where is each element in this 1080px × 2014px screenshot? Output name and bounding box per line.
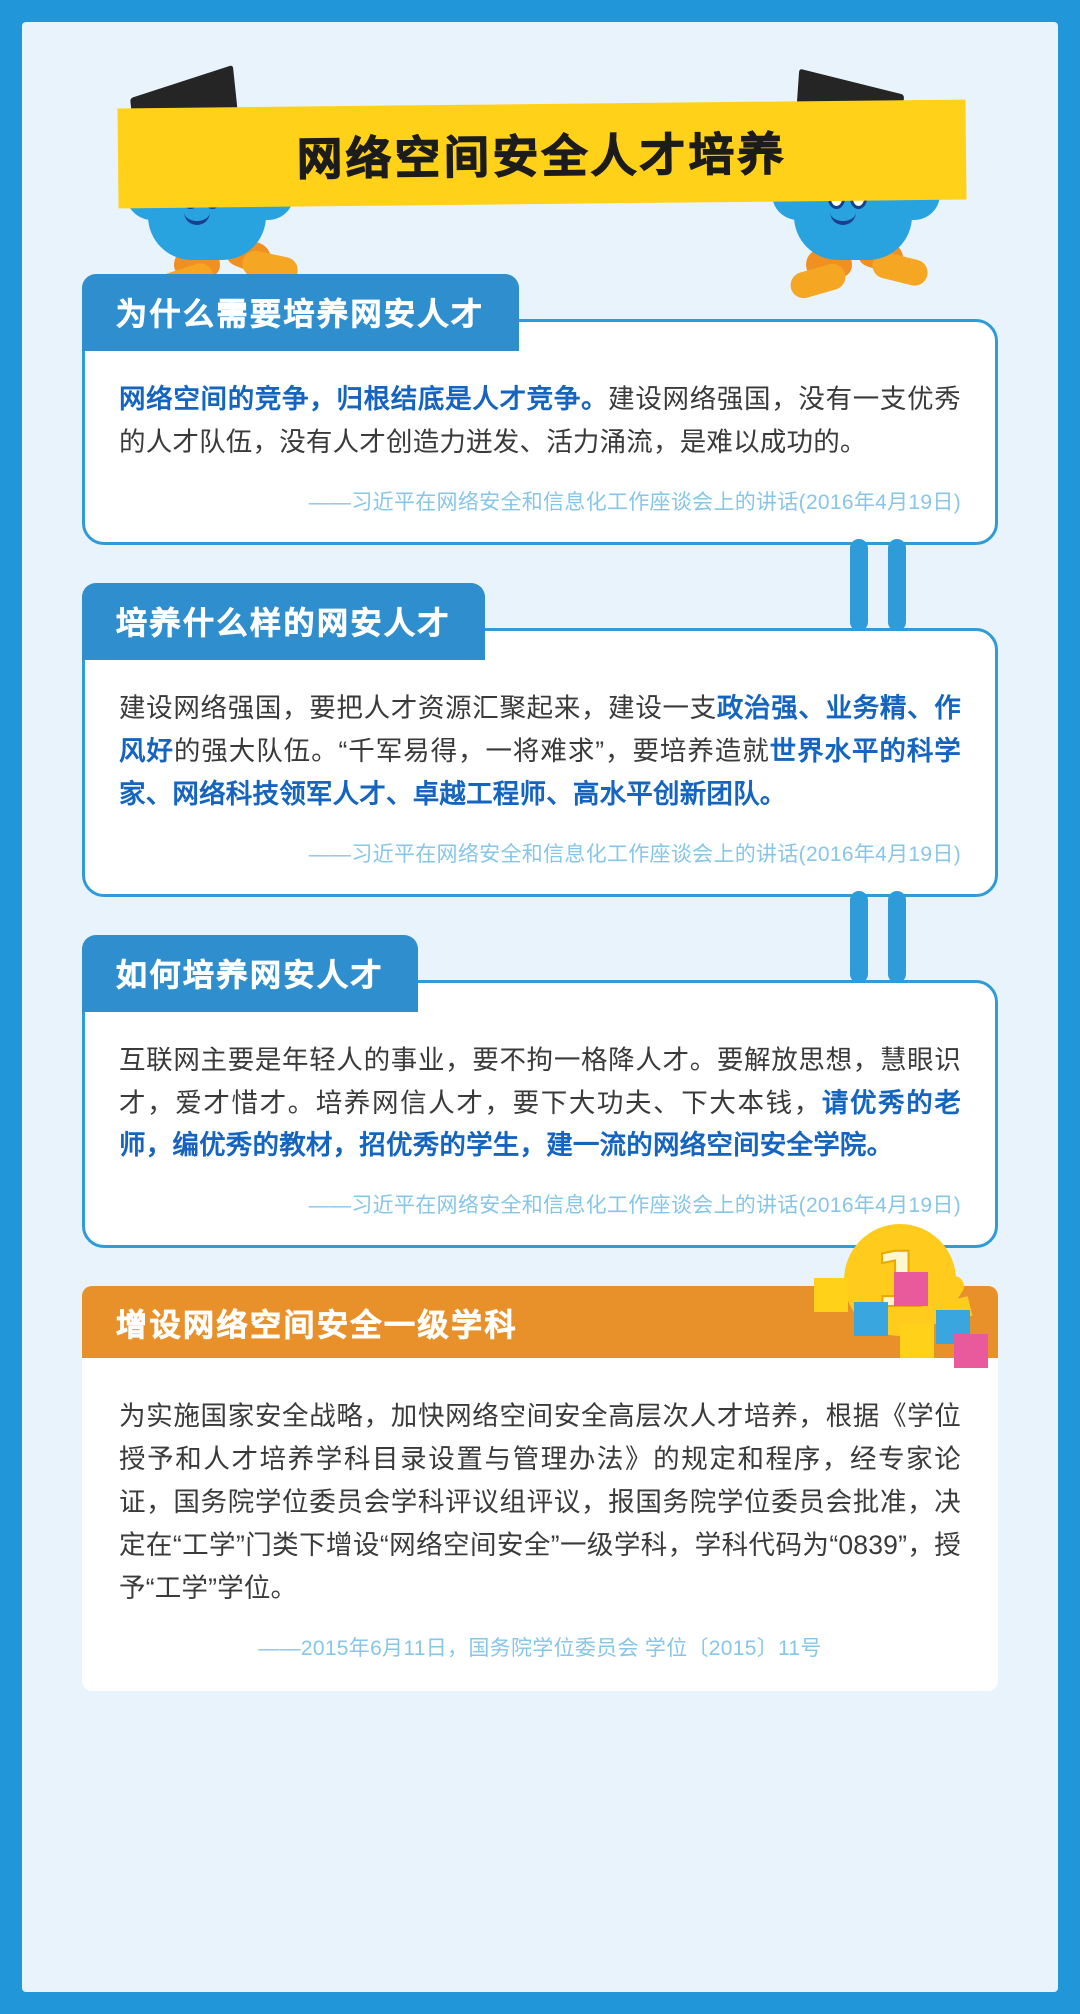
title-ribbon: 网络空间安全人才培养 xyxy=(117,100,966,209)
section-how: 如何培养网安人才互联网主要是年轻人的事业，要不拘一格降人才。要解放思想，慧眼识才… xyxy=(82,935,998,1249)
section-card-new-discipline: 为实施国家安全战略，加快网络空间安全高层次人才培养，根据《学位授予和人才培养学科… xyxy=(82,1358,998,1691)
highlighted-text-run: 网络空间的竞争，归根结底是人才竞争。 xyxy=(119,384,608,414)
flower-icon xyxy=(900,1324,934,1358)
text-run: 的强大队伍。“千军易得，一将难求”，要培养造就 xyxy=(174,736,770,766)
section-tab-label: 增设网络空间安全一级学科 xyxy=(82,1300,518,1345)
section-paragraph: 为实施国家安全战略，加快网络空间安全高层次人才培养，根据《学位授予和人才培养学科… xyxy=(119,1395,961,1610)
section-attribution: ——习近平在网络安全和信息化工作座谈会上的讲话(2016年4月19日) xyxy=(119,1189,961,1219)
connector-bar xyxy=(888,539,906,631)
poster-page: 网络空间安全人才培养 为什么需要培养网安人才网络空间的竞争，归根结底是人才竞争。… xyxy=(22,22,1058,1992)
flower-icon xyxy=(814,1278,848,1312)
connector-bar xyxy=(850,891,868,983)
section-tab-label: 如何培养网安人才 xyxy=(116,958,384,994)
section-attribution: ——习近平在网络安全和信息化工作座谈会上的讲话(2016年4月19日) xyxy=(119,838,961,868)
section-paragraph: 互联网主要是年轻人的事业，要不拘一格降人才。要解放思想，慧眼识才，爱才惜才。培养… xyxy=(119,1039,961,1168)
section-new-discipline: 增设网络空间安全一级学科1为实施国家安全战略，加快网络空间安全高层次人才培养，根… xyxy=(82,1286,998,1691)
poster-header: 网络空间安全人才培养 xyxy=(22,22,1058,274)
section-tab-label: 培养什么样的网安人才 xyxy=(116,606,451,642)
section-header-how[interactable]: 如何培养网安人才 xyxy=(82,935,418,1012)
connector-bar xyxy=(850,539,868,631)
section-card-why: 网络空间的竞争，归根结底是人才竞争。建设网络强国，没有一支优秀的人才队伍，没有人… xyxy=(82,319,998,545)
connector-bar xyxy=(888,891,906,983)
section-header-new-discipline[interactable]: 增设网络空间安全一级学科1 xyxy=(82,1286,998,1358)
section-header-what-kind[interactable]: 培养什么样的网安人才 xyxy=(82,583,485,660)
section-attribution: ——2015年6月11日，国务院学位委员会 学位〔2015〕11号 xyxy=(119,1632,961,1662)
text-run: 建设网络强国，要把人才资源汇聚起来，建设一支 xyxy=(119,693,717,723)
sections-list: 为什么需要培养网安人才网络空间的竞争，归根结底是人才竞争。建设网络强国，没有一支… xyxy=(22,274,1058,1691)
flower-icon xyxy=(894,1272,928,1306)
svg-text:1: 1 xyxy=(874,1235,927,1324)
section-tab-label: 为什么需要培养网安人才 xyxy=(116,297,485,333)
section-connector-bars xyxy=(850,539,906,631)
section-attribution: ——习近平在网络安全和信息化工作座谈会上的讲话(2016年4月19日) xyxy=(119,486,961,516)
section-why: 为什么需要培养网安人才网络空间的竞争，归根结底是人才竞争。建设网络强国，没有一支… xyxy=(82,274,998,545)
section-card-what-kind: 建设网络强国，要把人才资源汇聚起来，建设一支政治强、业务精、作风好的强大队伍。“… xyxy=(82,628,998,897)
section-card-how: 互联网主要是年轻人的事业，要不拘一格降人才。要解放思想，慧眼识才，爱才惜才。培养… xyxy=(82,980,998,1249)
section-header-why[interactable]: 为什么需要培养网安人才 xyxy=(82,274,519,351)
section-what-kind: 培养什么样的网安人才建设网络强国，要把人才资源汇聚起来，建设一支政治强、业务精、… xyxy=(82,583,998,897)
section-paragraph: 建设网络强国，要把人才资源汇聚起来，建设一支政治强、业务精、作风好的强大队伍。“… xyxy=(119,687,961,816)
section-connector-bars xyxy=(850,891,906,983)
section-paragraph: 网络空间的竞争，归根结底是人才竞争。建设网络强国，没有一支优秀的人才队伍，没有人… xyxy=(119,378,961,464)
text-run: 为实施国家安全战略，加快网络空间安全高层次人才培养，根据《学位授予和人才培养学科… xyxy=(119,1401,961,1603)
flower-icon xyxy=(854,1302,888,1336)
page-title: 网络空间安全人才培养 xyxy=(118,116,967,190)
flower-icon xyxy=(936,1310,970,1344)
